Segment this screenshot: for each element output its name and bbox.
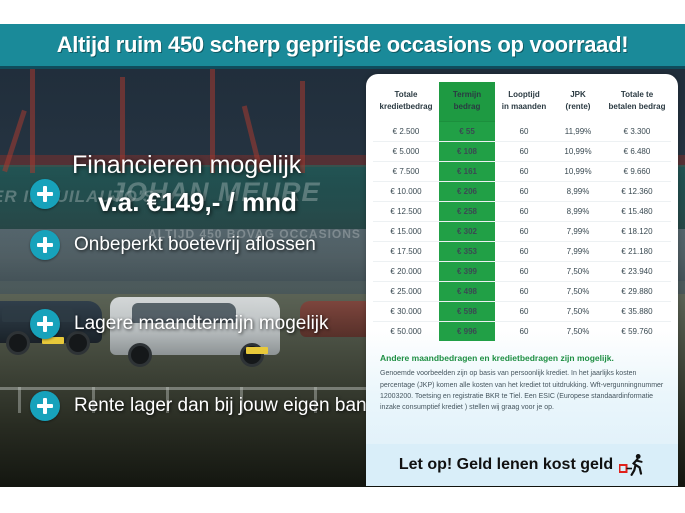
table-cell: € 7.500 <box>373 162 439 182</box>
header-line-1: Totale te <box>621 90 653 99</box>
table-cell: 7,50% <box>553 262 603 282</box>
feature-label: Rente lager dan bij jouw eigen bank <box>74 395 376 417</box>
table-cell: € 17.500 <box>373 242 439 262</box>
table-cell: 60 <box>495 222 553 242</box>
disclaimer-body: Genoemde voorbeelden zijn op basis van p… <box>380 368 664 413</box>
header-line-1: Totale <box>395 90 418 99</box>
table-cell: € 18.120 <box>603 222 671 242</box>
table-cell: € 12.500 <box>373 202 439 222</box>
legal-warning-bar: Let op! Geld lenen kost geld <box>366 444 678 486</box>
header-line-2: (rente) <box>566 102 591 111</box>
table-body: € 2.500€ 556011,99%€ 3.300€ 5.000€ 10860… <box>373 122 671 342</box>
disclaimer-title: Andere maandbedragen en kredietbedragen … <box>380 353 664 363</box>
table-row: € 50.000€ 996607,50%€ 59.760 <box>373 322 671 342</box>
column-header-term-amount: Termijn bedrag <box>439 82 495 122</box>
plus-icon <box>30 230 60 260</box>
running-person-icon <box>619 453 645 477</box>
header-line-1: Looptijd <box>508 90 540 99</box>
table-row: € 20.000€ 399607,50%€ 23.940 <box>373 262 671 282</box>
table-cell: 60 <box>495 162 553 182</box>
feature-list: Financieren mogelijk v.a. €149,- / mnd O… <box>0 69 365 487</box>
table-cell: 60 <box>495 322 553 342</box>
column-header-jkp: JPK (rente) <box>553 82 603 122</box>
table-cell: € 996 <box>439 322 495 342</box>
table-cell: 60 <box>495 182 553 202</box>
table-cell: € 9.660 <box>603 162 671 182</box>
table-cell: 8,99% <box>553 182 603 202</box>
table-cell: € 23.940 <box>603 262 671 282</box>
table-row: € 7.500€ 1616010,99%€ 9.660 <box>373 162 671 182</box>
plus-icon <box>30 179 60 209</box>
hero-line-2: v.a. €149,- / mnd <box>98 187 297 218</box>
table-row: € 2.500€ 556011,99%€ 3.300 <box>373 122 671 142</box>
table-row: € 15.000€ 302607,99%€ 18.120 <box>373 222 671 242</box>
table-row: € 5.000€ 1086010,99%€ 6.480 <box>373 142 671 162</box>
feature-label: Lagere maandtermijn mogelijk <box>74 313 329 335</box>
table-cell: € 30.000 <box>373 302 439 322</box>
table-cell: € 21.180 <box>603 242 671 262</box>
table-cell: € 206 <box>439 182 495 202</box>
card-disclaimer: Andere maandbedragen en kredietbedragen … <box>380 353 664 413</box>
table-row: € 10.000€ 206608,99%€ 12.360 <box>373 182 671 202</box>
table-header: Totale kredietbedrag Termijn bedrag Loop… <box>373 82 671 122</box>
table-cell: 60 <box>495 282 553 302</box>
feature-item-0: Onbeperkt boetevrij aflossen <box>30 230 316 260</box>
table-cell: € 25.000 <box>373 282 439 302</box>
header-line-2: bedrag <box>454 102 481 111</box>
column-header-duration: Looptijd in maanden <box>495 82 553 122</box>
table-row: € 17.500€ 353607,99%€ 21.180 <box>373 242 671 262</box>
plus-icon <box>30 391 60 421</box>
headline-text: Altijd ruim 450 scherp geprijsde occasio… <box>57 32 629 58</box>
table-cell: 60 <box>495 142 553 162</box>
header-line-1: JPK <box>570 90 586 99</box>
table-cell: 10,99% <box>553 162 603 182</box>
table-cell: € 302 <box>439 222 495 242</box>
table-cell: € 50.000 <box>373 322 439 342</box>
table-cell: € 55 <box>439 122 495 142</box>
table-cell: € 2.500 <box>373 122 439 142</box>
header-line-2: betalen bedrag <box>609 102 666 111</box>
table-cell: € 498 <box>439 282 495 302</box>
table-cell: € 29.880 <box>603 282 671 302</box>
table-cell: 11,99% <box>553 122 603 142</box>
financing-rates-table: Totale kredietbedrag Termijn bedrag Loop… <box>373 82 671 341</box>
table-cell: 7,99% <box>553 222 603 242</box>
legal-warning-text: Let op! Geld lenen kost geld <box>399 456 613 474</box>
plus-icon <box>30 309 60 339</box>
hero-bullet <box>30 179 60 209</box>
column-header-total-credit: Totale kredietbedrag <box>373 82 439 122</box>
column-header-total-payable: Totale te betalen bedrag <box>603 82 671 122</box>
table-cell: € 35.880 <box>603 302 671 322</box>
table-cell: € 12.360 <box>603 182 671 202</box>
table-cell: € 3.300 <box>603 122 671 142</box>
table-cell: € 15.480 <box>603 202 671 222</box>
table-cell: € 20.000 <box>373 262 439 282</box>
table-header-row: Totale kredietbedrag Termijn bedrag Loop… <box>373 82 671 122</box>
table-cell: € 10.000 <box>373 182 439 202</box>
financing-info-card: Totale kredietbedrag Termijn bedrag Loop… <box>366 74 678 486</box>
hero-line-1: Financieren mogelijk <box>72 151 301 180</box>
table-cell: 7,50% <box>553 322 603 342</box>
table-cell: 7,50% <box>553 302 603 322</box>
headline-bar: Altijd ruim 450 scherp geprijsde occasio… <box>0 24 685 66</box>
table-cell: 60 <box>495 122 553 142</box>
table-cell: € 353 <box>439 242 495 262</box>
table-row: € 12.500€ 258608,99%€ 15.480 <box>373 202 671 222</box>
table-cell: € 15.000 <box>373 222 439 242</box>
header-line-2: kredietbedrag <box>380 102 433 111</box>
table-cell: € 161 <box>439 162 495 182</box>
table-cell: 60 <box>495 242 553 262</box>
table-cell: 7,50% <box>553 282 603 302</box>
table-cell: € 59.760 <box>603 322 671 342</box>
table-cell: 60 <box>495 262 553 282</box>
table-cell: € 399 <box>439 262 495 282</box>
advertisement-banner: ER INRUILAUTO'S JOHAN MEURE ALTIJD 450 B… <box>0 0 685 487</box>
table-cell: 60 <box>495 302 553 322</box>
table-cell: 10,99% <box>553 142 603 162</box>
table-cell: € 258 <box>439 202 495 222</box>
header-line-2: in maanden <box>502 102 546 111</box>
feature-item-1: Lagere maandtermijn mogelijk <box>30 309 329 339</box>
table-row: € 30.000€ 598607,50%€ 35.880 <box>373 302 671 322</box>
table-cell: 8,99% <box>553 202 603 222</box>
table-row: € 25.000€ 498607,50%€ 29.880 <box>373 282 671 302</box>
table-cell: 60 <box>495 202 553 222</box>
feature-item-2: Rente lager dan bij jouw eigen bank <box>30 391 376 421</box>
feature-label: Onbeperkt boetevrij aflossen <box>74 234 316 256</box>
table-cell: € 598 <box>439 302 495 322</box>
header-line-1: Termijn <box>453 90 481 99</box>
table-cell: € 5.000 <box>373 142 439 162</box>
table-cell: 7,99% <box>553 242 603 262</box>
table-cell: € 108 <box>439 142 495 162</box>
table-cell: € 6.480 <box>603 142 671 162</box>
